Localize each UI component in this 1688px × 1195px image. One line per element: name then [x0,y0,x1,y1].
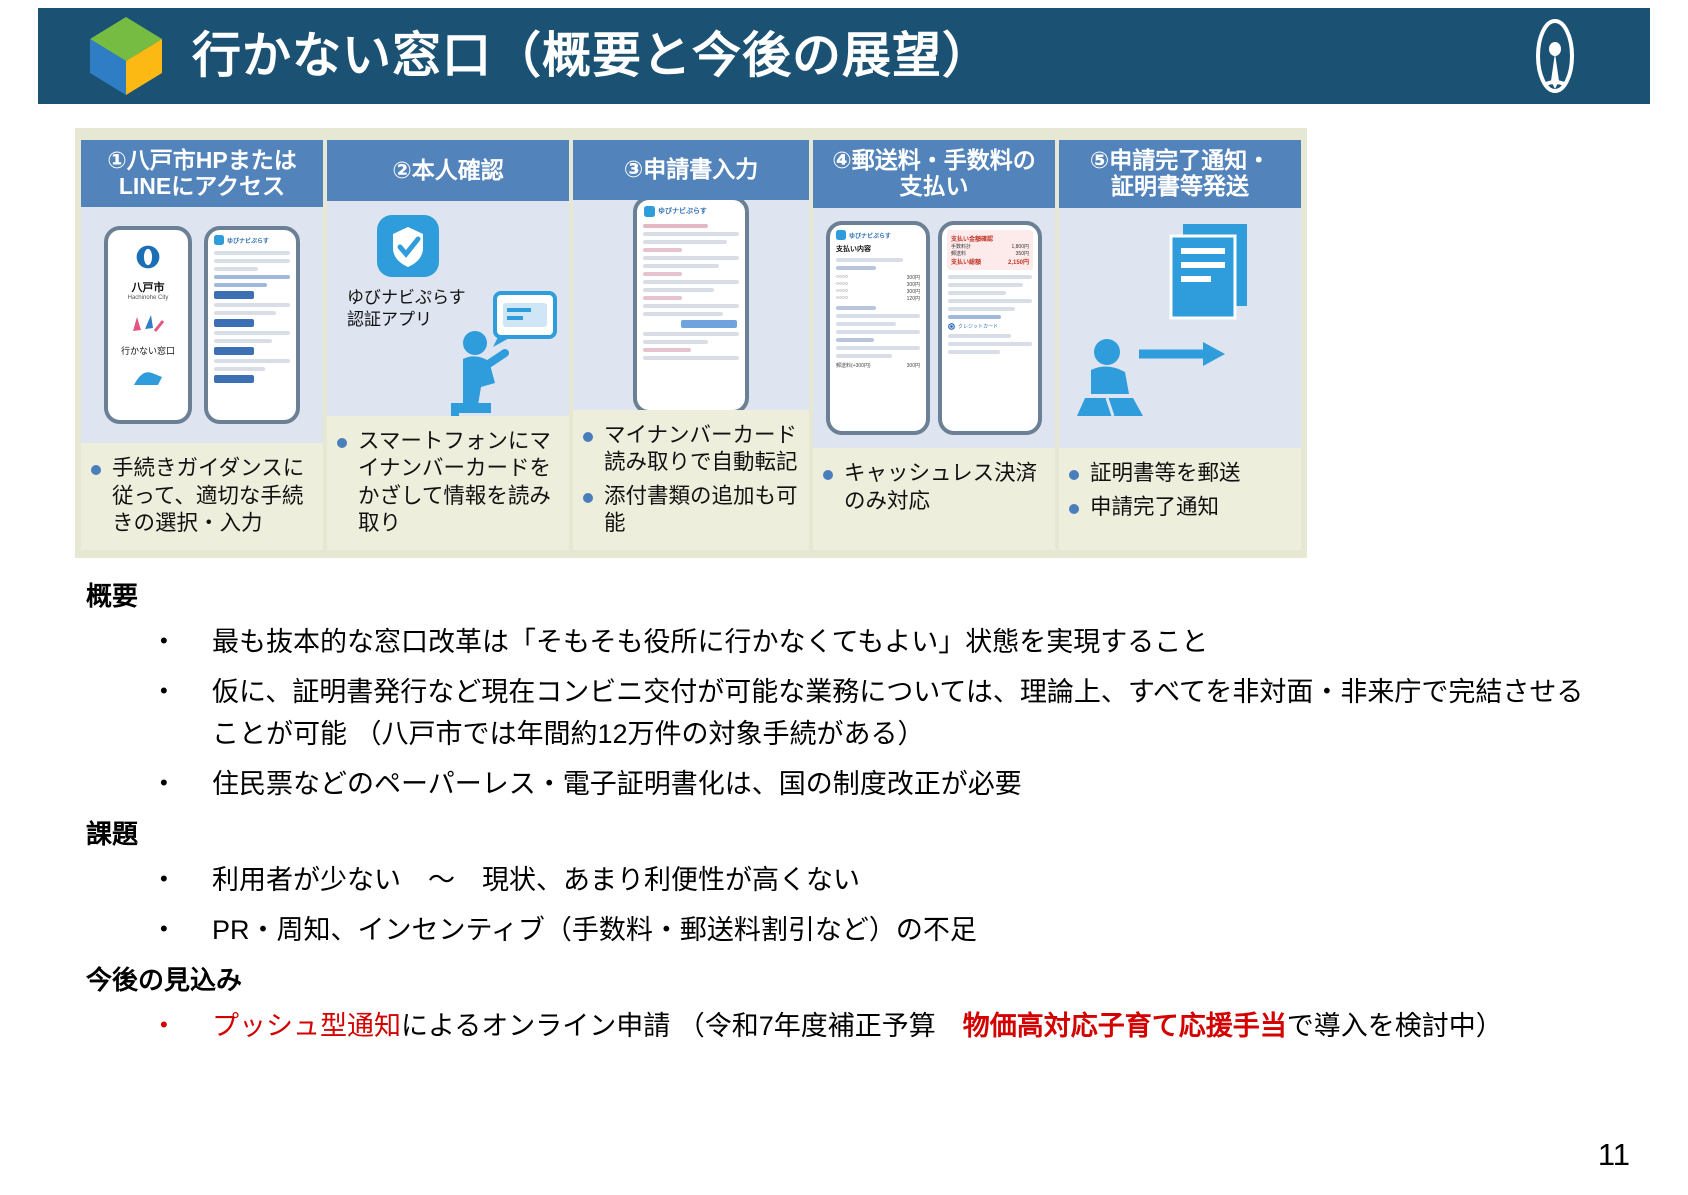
flow-col5-head-line2: 証明書等発送 [1111,173,1249,199]
list-item: マイナンバーカード読み取りで自動転記 [583,422,801,477]
flow-column-5-header: ⑤申請完了通知・ 証明書等発送 [1059,140,1301,208]
flow-column-1-image: 八戸市 Hachinohe City 行かない窓口 [81,207,323,443]
flow-col2-head-line1: ②本人確認 [392,158,503,184]
flow-column-2-image: ゆびナビぷらす 認証アプリ [327,201,569,416]
pay-panel-title: 支払い内容 [836,244,920,254]
bullet-dot-icon [1069,470,1079,480]
overview-item-1: 最も抜本的な窓口改革は「そもそも役所に行かなくてもよい」状態を実現すること [212,622,1592,664]
list-item: • 利用者が少ない ～ 現状、あまり利便性が高くない [160,860,1688,902]
section-heading-outlook: 今後の見込み [86,962,1688,998]
bullet-dot-icon [583,493,593,503]
pay-app-title: ゆびナビぷらす [849,231,891,240]
list-item: キャッシュレス決済のみ対応 [823,460,1047,515]
outlook-part-4: で導入を検討中） [1287,1011,1503,1041]
flow-col5-head-line1: ⑤申請完了通知・ [1090,147,1270,173]
app-badge-icon [836,230,846,240]
list-item: 手続きガイダンスに従って、適切な手続きの選択・入力 [91,455,315,538]
phone-mockup-payment-right: 支払い金額確認 手数料計1,800円 郵送料350円 支払い総額2,150円 ク… [938,221,1042,435]
auth-app-icon [377,215,439,277]
phone-service-name: 行かない窓口 [108,344,188,357]
hand-pointer-icon [128,363,168,389]
app-badge-icon [214,235,224,245]
phone-mockup-hp: 八戸市 Hachinohe City 行かない窓口 [104,226,192,424]
city-mark-icon [135,244,161,270]
page-number: 11 [1598,1137,1630,1173]
hachinohe-city-emblem-icon [1518,19,1592,93]
list-item: • プッシュ型通知によるオンライン申請 （令和7年度補正予算 物価高対応子育て応… [160,1006,1688,1048]
list-item: スマートフォンにマイナンバーカードをかざして情報を読み取り [337,428,561,538]
body-content: 概要 • 最も抜本的な窓口改革は「そもそも役所に行かなくてもよい」状態を実現する… [0,568,1688,1048]
issues-item-1: 利用者が少ない ～ 現状、あまり利便性が高くない [212,860,1592,902]
phone-mockup-form: ゆびナビぷらす [633,200,749,410]
flow-col1-head-line1: ①八戸市HPまたは [107,147,296,173]
flow-col3-bullet-1: マイナンバーカード読み取りで自動転記 [604,422,801,477]
flow-column-4-body: キャッシュレス決済のみ対応 [813,448,1055,550]
person-with-phone-illustration-icon [437,291,557,416]
overview-item-3: 住民票などのペーパーレス・電子証明書化は、国の制度改正が必要 [212,764,1592,806]
flow-column-4-image: ゆびナビぷらす 支払い内容 ○○○○300円 ○○○○300円 ○○○○300円… [813,208,1055,448]
bullet-dot-icon [337,438,347,448]
process-flow-table: ①八戸市HPまたは LINEにアクセス 八戸市 Hachinohe [75,128,1307,558]
flow-col1-bullet-1: 手続きガイダンスに従って、適切な手続きの選択・入力 [112,455,315,538]
flow-col1-head-line2: LINEにアクセス [119,173,285,199]
slide-header: 行かない窓口（概要と今後の展望） [38,8,1650,104]
bullet-marker: • [160,1006,212,1044]
flow-column-2-header: ②本人確認 [327,140,569,201]
cube-logo-icon [88,15,164,97]
flow-column-2-body: スマートフォンにマイナンバーカードをかざして情報を読み取り [327,416,569,550]
list-item: 申請完了通知 [1069,494,1293,522]
flow-column-5-image [1059,208,1301,448]
outlook-part-1: プッシュ型通知 [212,1011,401,1041]
slide-root: 行かない窓口（概要と今後の展望） ①八戸市HPまたは LINEにアクセス [0,0,1688,1195]
phone-city-name: 八戸市 [108,279,188,295]
overview-item-2: 仮に、証明書発行など現在コンビニ交付が可能な業務については、理論上、すべてを非対… [212,672,1592,756]
phone-mockup-payment-left: ゆびナビぷらす 支払い内容 ○○○○300円 ○○○○300円 ○○○○300円… [826,221,930,435]
issues-item-2: PR・周知、インセンティブ（手数料・郵送料割引など）の不足 [212,910,1592,952]
sparkle-icon [125,311,171,337]
list-item: 添付書類の追加も可能 [583,483,801,538]
list-item: 証明書等を郵送 [1069,460,1293,488]
flow-col4-head-line2: 支払い [900,173,969,199]
bullet-marker: • [160,672,212,710]
documents-icon [1155,218,1265,328]
radio-icon [948,323,955,330]
list-item: • PR・周知、インセンティブ（手数料・郵送料割引など）の不足 [160,910,1688,952]
flow-col3-head-line1: ③申請書入力 [624,157,758,183]
phone-city-name-en: Hachinohe City [108,295,188,301]
bullet-marker: • [160,910,212,948]
flow-column-2: ②本人確認 ゆびナビぷらす 認証アプリ [327,140,569,550]
list-item: • 最も抜本的な窓口改革は「そもそも役所に行かなくてもよい」状態を実現すること [160,622,1688,664]
page-title: 行かない窓口（概要と今後の展望） [192,32,992,81]
flow-col5-bullet-2: 申請完了通知 [1090,494,1293,522]
flow-column-3-body: マイナンバーカード読み取りで自動転記 添付書類の追加も可能 [573,410,809,550]
list-item: • 仮に、証明書発行など現在コンビニ交付が可能な業務については、理論上、すべてを… [160,672,1688,756]
bullet-marker: • [160,764,212,802]
flow-col3-bullet-2: 添付書類の追加も可能 [604,483,801,538]
flow-column-4-header: ④郵送料・手数料の 支払い [813,140,1055,208]
form-app-title: ゆびナビぷらす [658,206,707,216]
bullet-dot-icon [1069,504,1079,514]
bullet-marker: • [160,622,212,660]
person-receiving-icon [1077,336,1227,426]
section-heading-overview: 概要 [86,578,1688,614]
flow-column-4: ④郵送料・手数料の 支払い ゆびナビぷらす 支払い内容 [813,140,1055,550]
flow-column-5: ⑤申請完了通知・ 証明書等発送 [1059,140,1301,550]
bullet-marker: • [160,860,212,898]
phone-mockup-line: ゆびナビぷらす [204,226,300,424]
flow-column-1-body: 手続きガイダンスに従って、適切な手続きの選択・入力 [81,443,323,550]
flow-column-3-header: ③申請書入力 [573,140,809,200]
flow-col5-bullet-1: 証明書等を郵送 [1090,460,1293,488]
list-item: • 住民票などのペーパーレス・電子証明書化は、国の制度改正が必要 [160,764,1688,806]
outlook-part-2: によるオンライン申請 （令和7年度補正予算 [401,1011,963,1041]
outlook-item-1: プッシュ型通知によるオンライン申請 （令和7年度補正予算 物価高対応子育て応援手… [212,1006,1592,1048]
outlook-part-3: 物価高対応子育て応援手当 [963,1011,1287,1041]
flow-column-1: ①八戸市HPまたは LINEにアクセス 八戸市 Hachinohe [81,140,323,550]
flow-col4-head-line1: ④郵送料・手数料の [832,147,1035,173]
section-heading-issues: 課題 [86,816,1688,852]
bullet-dot-icon [583,432,593,442]
app-badge-icon [644,206,655,217]
bullet-dot-icon [823,470,833,480]
flow-col4-bullet-1: キャッシュレス決済のみ対応 [844,460,1047,515]
flow-col2-bullet-1: スマートフォンにマイナンバーカードをかざして情報を読み取り [358,428,561,538]
flow-column-3-image: ゆびナビぷらす [573,200,809,410]
flow-column-5-body: 証明書等を郵送 申請完了通知 [1059,448,1301,550]
bullet-dot-icon [91,465,101,475]
flow-column-3: ③申請書入力 ゆびナビぷらす [573,140,809,550]
flow-column-1-header: ①八戸市HPまたは LINEにアクセス [81,140,323,207]
